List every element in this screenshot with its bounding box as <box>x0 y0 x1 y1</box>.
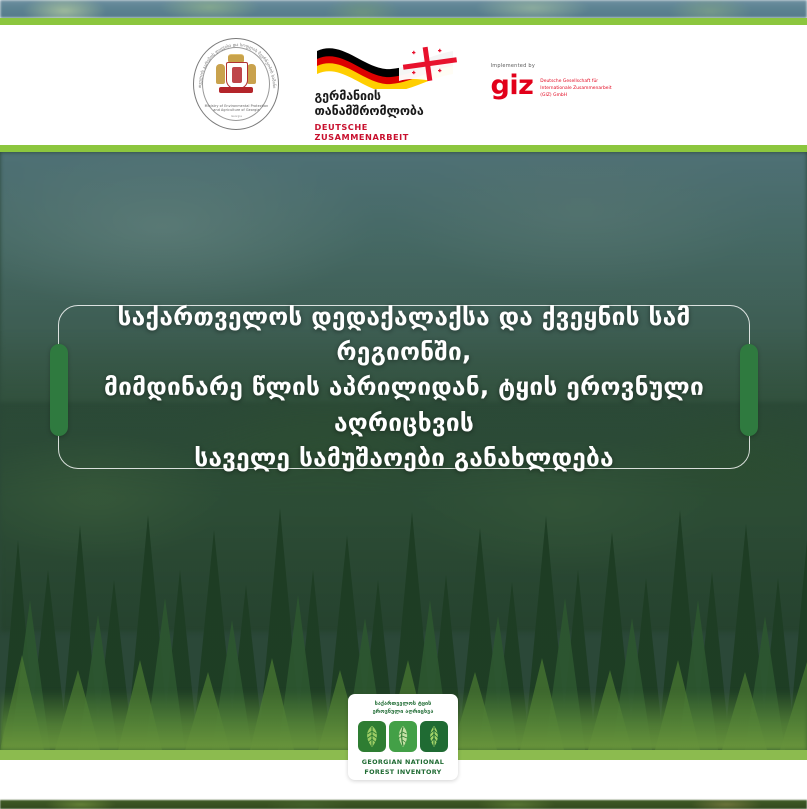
german-cooperation-wordmark: გერმანიის თანამშრომლობა DEUTSCHE ZUSAMME… <box>315 89 461 142</box>
poster-canvas: საქართველოს გარემოს დაცვისა და სოფლის მე… <box>0 0 807 809</box>
giz-wordmark: giz <box>491 75 534 97</box>
giz-logo-row: giz Deutsche Gesellschaft für Internatio… <box>491 75 619 99</box>
top-photo-strip <box>0 0 807 18</box>
ministry-seal-logo: საქართველოს გარემოს დაცვისა და სოფლის მე… <box>189 36 285 134</box>
announcement-title-plate: საქართველოს დედაქალაქსა და ქვეყნის სამ რ… <box>58 305 750 469</box>
german-georgian-flag-wave-icon <box>313 41 463 89</box>
giz-legal-name: Deutsche Gesellschaft für Internationale… <box>540 75 618 99</box>
title-line-2: მიმდინარე წლის აპრილიდან, ტყის ეროვნული … <box>80 369 728 439</box>
german-cooperation-logo: გერმანიის თანამშრომლობა DEUTSCHE ZUSAMME… <box>313 39 463 131</box>
gnfi-name-en: GEORGIAN NATIONAL FOREST INVENTORY <box>353 758 453 777</box>
bottom-photo-strip <box>0 800 807 809</box>
gnfi-name-ka: საქართველოს ტყის ეროვნული აღრიცხვა <box>353 700 453 716</box>
giz-implemented-by-label: Implemented by <box>491 63 619 69</box>
top-green-divider <box>0 18 807 25</box>
seal-caption-sub: Georgia <box>205 115 269 119</box>
partner-logo-band: საქართველოს გარემოს დაცვისა და სოფლის მე… <box>0 25 807 145</box>
accent-bar-right <box>740 344 758 436</box>
gnfi-leaf-tiles <box>353 721 453 752</box>
leaf-tile-broadleaf <box>358 721 386 752</box>
conifer-leaf-icon <box>426 725 442 748</box>
gnfi-name-ka-line2: ეროვნული აღრიცხვა <box>353 708 453 716</box>
motto-banner-icon <box>219 87 253 93</box>
title-line-3: საველე სამუშაოები განახლდება <box>80 440 728 475</box>
lion-supporter-left-icon <box>216 64 225 84</box>
gnfi-name-en-line1: GEORGIAN NATIONAL <box>353 758 453 767</box>
gnfi-logo-card: საქართველოს ტყის ეროვნული აღრიცხვა <box>348 694 458 780</box>
georgian-coat-of-arms-icon <box>215 54 257 102</box>
leaf-tile-oval <box>389 721 417 752</box>
lion-supporter-right-icon <box>247 64 256 84</box>
crown-icon <box>228 54 244 62</box>
seal-caption-en: Ministry of Environmental Protection and… <box>205 104 269 112</box>
german-cooperation-title-ka: გერმანიის თანამშრომლობა <box>315 89 461 119</box>
german-cooperation-title-de: DEUTSCHE ZUSAMMENARBEIT <box>315 122 461 142</box>
gnfi-name-ka-line1: საქართველოს ტყის <box>353 700 453 708</box>
title-line-1: საქართველოს დედაქალაქსა და ქვეყნის სამ რ… <box>80 299 728 369</box>
accent-bar-left <box>50 344 68 436</box>
broadleaf-icon <box>363 725 381 748</box>
giz-logo: Implemented by giz Deutsche Gesellschaft… <box>491 63 619 125</box>
oval-leaf-icon <box>395 725 411 748</box>
shield-icon <box>226 62 248 89</box>
gnfi-name-en-line2: FOREST INVENTORY <box>353 768 453 777</box>
announcement-title: საქართველოს დედაქალაქსა და ქვეყნის სამ რ… <box>80 299 728 474</box>
hero-top-green-divider <box>0 145 807 152</box>
leaf-tile-conifer <box>420 721 448 752</box>
seal-caption: Ministry of Environmental Protection and… <box>205 104 269 118</box>
